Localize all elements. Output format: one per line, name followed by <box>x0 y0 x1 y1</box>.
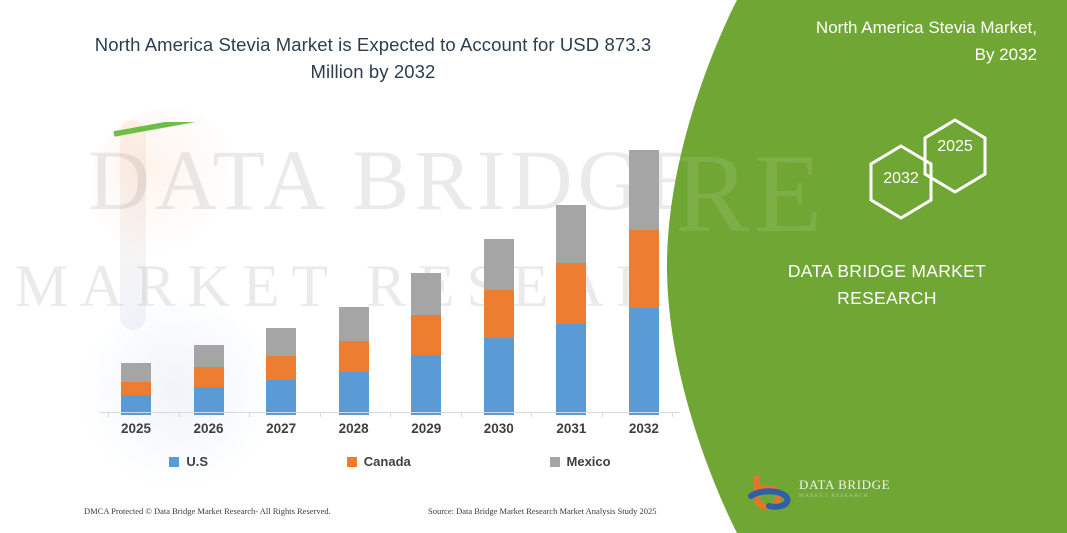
bar-segment-us[interactable] <box>629 308 659 415</box>
bar-segment-mexico[interactable] <box>556 205 586 263</box>
stacked-bar[interactable] <box>484 239 514 415</box>
stacked-bar[interactable] <box>121 363 151 415</box>
bar-segment-mexico[interactable] <box>266 328 296 356</box>
bar-segment-canada[interactable] <box>266 356 296 380</box>
bar-segment-canada[interactable] <box>411 315 441 355</box>
x-axis-label-2026: 2026 <box>181 421 237 436</box>
hexagon-icons <box>835 110 1035 250</box>
dbmr-logo-text: DATA BRIDGE <box>799 477 890 493</box>
panel-title-line-1: North America Stevia Market, <box>727 14 1037 41</box>
legend-label: U.S <box>186 454 208 469</box>
x-axis-tick <box>602 412 603 417</box>
bar-segment-us[interactable] <box>484 338 514 415</box>
bar-segment-us[interactable] <box>556 324 586 415</box>
x-axis-tick <box>531 412 532 417</box>
x-axis-label-2030: 2030 <box>471 421 527 436</box>
bar-column-2031[interactable] <box>543 112 599 415</box>
x-axis-label-2032: 2032 <box>616 421 672 436</box>
bar-column-2027[interactable] <box>253 112 309 415</box>
bar-segment-canada[interactable] <box>556 263 586 324</box>
bar-segment-mexico[interactable] <box>411 273 441 315</box>
bar-segment-us[interactable] <box>266 380 296 415</box>
bar-segment-mexico[interactable] <box>121 363 151 382</box>
bar-segment-mexico[interactable] <box>484 239 514 289</box>
bar-segment-canada[interactable] <box>339 341 369 372</box>
chart-plot-area <box>100 112 680 415</box>
dbmr-logo-mark-icon <box>747 472 795 512</box>
x-axis-label-2027: 2027 <box>253 421 309 436</box>
bar-segment-us[interactable] <box>411 355 441 415</box>
bar-segment-canada[interactable] <box>484 290 514 339</box>
bar-column-2026[interactable] <box>181 112 237 415</box>
legend-label: Canada <box>364 454 411 469</box>
x-axis-label-2025: 2025 <box>108 421 164 436</box>
stacked-bar[interactable] <box>629 150 659 415</box>
stacked-bar[interactable] <box>556 205 586 415</box>
x-axis-tick <box>672 412 673 417</box>
legend-swatch-canada <box>347 457 357 467</box>
bar-column-2030[interactable] <box>471 112 527 415</box>
bar-column-2025[interactable] <box>108 112 164 415</box>
bar-column-2029[interactable] <box>398 112 454 415</box>
x-axis-label-2028: 2028 <box>326 421 382 436</box>
bar-column-2032[interactable] <box>616 112 672 415</box>
panel-brand-line-1: DATA BRIDGE MARKET <box>727 258 1047 285</box>
bar-segment-us[interactable] <box>194 387 224 415</box>
x-axis-tick <box>320 412 321 417</box>
hexagon-group: 2032 2025 <box>835 110 1035 255</box>
panel-brand-line-2: RESEARCH <box>727 285 1047 312</box>
stacked-bar[interactable] <box>194 345 224 415</box>
stacked-bar[interactable] <box>266 328 296 415</box>
x-axis-label-2029: 2029 <box>398 421 454 436</box>
dbmr-logo-subtext: MARKET RESEARCH <box>799 493 869 499</box>
chart-legend: U.SCanadaMexico <box>100 454 680 469</box>
hexagon-2025-icon <box>925 120 985 192</box>
dbmr-logo: DATA BRIDGE MARKET RESEARCH <box>747 472 927 516</box>
bar-segment-canada[interactable] <box>121 382 151 396</box>
hexagon-2025-label: 2025 <box>925 138 985 156</box>
x-axis-tick <box>108 412 109 417</box>
legend-label: Mexico <box>567 454 611 469</box>
bar-segment-canada[interactable] <box>194 367 224 387</box>
bar-segment-canada[interactable] <box>629 230 659 308</box>
x-axis-labels: 20252026202720282029203020312032 <box>100 421 680 436</box>
bar-segment-us[interactable] <box>339 372 369 415</box>
legend-item-canada[interactable]: Canada <box>347 454 411 469</box>
panel-watermark: RE <box>675 130 826 259</box>
bar-column-2028[interactable] <box>326 112 382 415</box>
x-axis-tick <box>461 412 462 417</box>
legend-swatch-us <box>169 457 179 467</box>
stacked-bar[interactable] <box>411 273 441 415</box>
page-title: North America Stevia Market is Expected … <box>78 32 668 86</box>
legend-swatch-mexico <box>550 457 560 467</box>
bar-segment-mexico[interactable] <box>194 345 224 368</box>
x-axis-tick <box>179 412 180 417</box>
x-axis-label-2031: 2031 <box>543 421 599 436</box>
x-axis-tick <box>390 412 391 417</box>
legend-item-us[interactable]: U.S <box>169 454 208 469</box>
panel-content: RE North America Stevia Market, By 2032 … <box>727 0 1067 533</box>
bar-segment-mexico[interactable] <box>629 150 659 230</box>
panel-title: North America Stevia Market, By 2032 <box>727 14 1037 68</box>
footer-source: Source: Data Bridge Market Research Mark… <box>428 506 657 516</box>
footer-copyright: DMCA Protected © Data Bridge Market Rese… <box>84 506 331 516</box>
panel-brand: DATA BRIDGE MARKET RESEARCH <box>727 258 1047 312</box>
stacked-bar[interactable] <box>339 307 369 415</box>
bar-segment-mexico[interactable] <box>339 307 369 341</box>
legend-item-mexico[interactable]: Mexico <box>550 454 611 469</box>
infographic-root: DATA BRIDGE MARKET RESEARCH North Americ… <box>0 0 1067 533</box>
bar-chart <box>100 110 680 415</box>
panel-title-line-2: By 2032 <box>727 41 1037 68</box>
hexagon-2032-label: 2032 <box>871 170 931 188</box>
x-axis-tick <box>249 412 250 417</box>
